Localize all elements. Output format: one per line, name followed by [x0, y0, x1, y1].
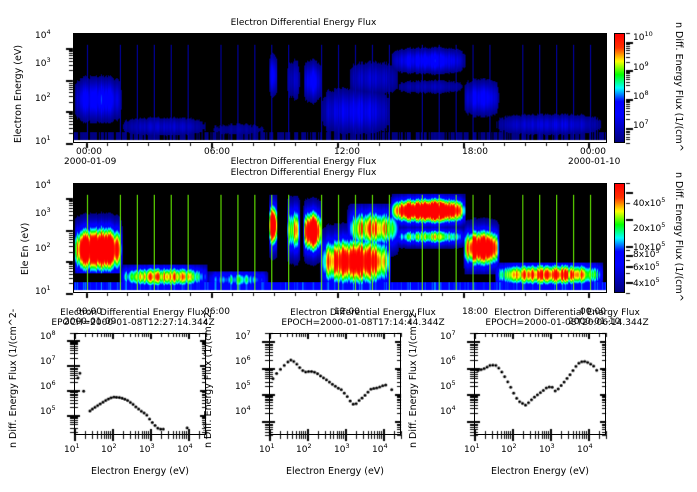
middle-colorbar-label: n Diff. Energy Flux (1/(cm^: [673, 172, 684, 302]
spectrum-2-title: Electron Differential Energy Flux: [248, 308, 478, 318]
spectrum-1-x-axis-label: Electron Energy (eV): [74, 466, 206, 477]
spectrum-3-y-tick-7: 107: [440, 329, 456, 342]
spectrum-3-x-tick-1: 101: [464, 442, 480, 455]
spectrum-3-y-tick-5: 105: [440, 379, 456, 392]
top-panel-y-axis-label: Electron Energy (eV): [13, 45, 24, 143]
spectrum-1-y-tick-7: 107: [40, 354, 56, 367]
top-y-tick-4: 104: [35, 28, 51, 41]
spectrum-2-y-tick-7: 107: [235, 329, 251, 342]
spectrum-1-y-axis-label: n Diff. Energy Flux (1/(cm^2-: [8, 309, 19, 448]
middle-colorbar-tick-40: 40x105: [633, 196, 665, 209]
spectrum-2-y-axis-label: n Diff. Energy Flux (1/(cm^2-: [203, 309, 214, 448]
middle-colorbar: [614, 183, 625, 293]
spectrum-2-x-tick-1: 101: [259, 442, 275, 455]
top-colorbar-tick-8: 108: [633, 89, 649, 102]
spectrum-1-y-tick-6: 106: [40, 379, 56, 392]
middle-y-tick-1: 101: [35, 284, 51, 297]
spectrum-2-x-tick-3: 103: [334, 442, 350, 455]
top-colorbar: [614, 33, 625, 143]
top-y-tick-3: 103: [35, 56, 51, 69]
spectrum-1-x-tick-3: 103: [139, 442, 155, 455]
top-x-tick-0: 00:00: [76, 147, 102, 157]
spectrum-2-y-tick-5: 105: [235, 379, 251, 392]
top-panel-title: Electron Differential Energy Flux: [0, 18, 607, 28]
top-x-tick-1: 06:00: [204, 147, 230, 157]
middle-colorbar-tick-8: 8x105: [633, 247, 660, 260]
spectrum-1-y-tick-5: 105: [40, 404, 56, 417]
spectrum-3-x-tick-3: 103: [539, 442, 555, 455]
spectrum-1-x-tick-2: 102: [101, 442, 117, 455]
middle-panel-y-axis-label: Ele En (eV): [20, 223, 31, 275]
top-x-tick-3: 18:00: [462, 147, 488, 157]
middle-colorbar-tick-4: 4x105: [633, 276, 660, 289]
spectrum-2-subtitle: EPOCH=2000-01-08T17:14:44.344Z: [248, 318, 478, 328]
spectrum-1-plot: [74, 333, 206, 435]
spectrum-1-x-tick-1: 101: [64, 442, 80, 455]
spectrum-1-x-tick-4: 104: [177, 442, 193, 455]
top-colorbar-tick-9: 109: [633, 60, 649, 73]
middle-y-tick-3: 103: [35, 206, 51, 219]
spectrum-3-y-axis-label: n Diff. Energy Flux (1/(cm^2-: [408, 309, 419, 448]
middle-panel-title: Electron Differential Energy Flux: [0, 168, 607, 178]
spectrum-2-x-axis-label: Electron Energy (eV): [269, 466, 401, 477]
spectrum-3-plot: [474, 333, 606, 435]
top-colorbar-tick-10: 1010: [633, 30, 653, 43]
top-panel-x-axis-label: Electron Differential Energy Flux: [0, 157, 607, 167]
spectrum-3-x-tick-2: 102: [501, 442, 517, 455]
middle-colorbar-tick-6: 6x105: [633, 260, 660, 273]
middle-colorbar-tick-20: 20x105: [633, 221, 665, 234]
spectrum-3-y-tick-6: 106: [440, 354, 456, 367]
top-colorbar-tick-7: 107: [633, 118, 649, 131]
top-x-tick-2: 12:00: [334, 147, 360, 157]
top-y-tick-1: 101: [35, 134, 51, 147]
spectrum-2-y-tick-6: 106: [235, 354, 251, 367]
top-colorbar-label: n Diff. Energy Flux (1/(cm^: [673, 22, 684, 152]
spectrum-3-y-tick-4: 104: [440, 404, 456, 417]
spectrum-2-plot: [269, 333, 401, 435]
top-spectrogram-plot: [73, 33, 607, 143]
middle-spectrogram-plot: [73, 183, 607, 293]
spectrum-2-x-tick-2: 102: [296, 442, 312, 455]
spectrum-3-x-tick-4: 104: [577, 442, 593, 455]
spectrum-2-x-tick-4: 104: [372, 442, 388, 455]
spectrum-3-title: Electron Differential Energy Flux: [452, 308, 682, 318]
top-y-tick-2: 102: [35, 91, 51, 104]
top-x-tick-4: 00:00: [580, 147, 606, 157]
spectrum-3-subtitle: EPOCH=2000-01-08T20:06:14.344Z: [452, 318, 682, 328]
middle-y-tick-2: 102: [35, 241, 51, 254]
spectrum-3-x-axis-label: Electron Energy (eV): [474, 466, 606, 477]
spectrum-2-y-tick-4: 104: [235, 404, 251, 417]
middle-y-tick-4: 104: [35, 178, 51, 191]
spectrum-1-y-tick-8: 108: [40, 329, 56, 342]
